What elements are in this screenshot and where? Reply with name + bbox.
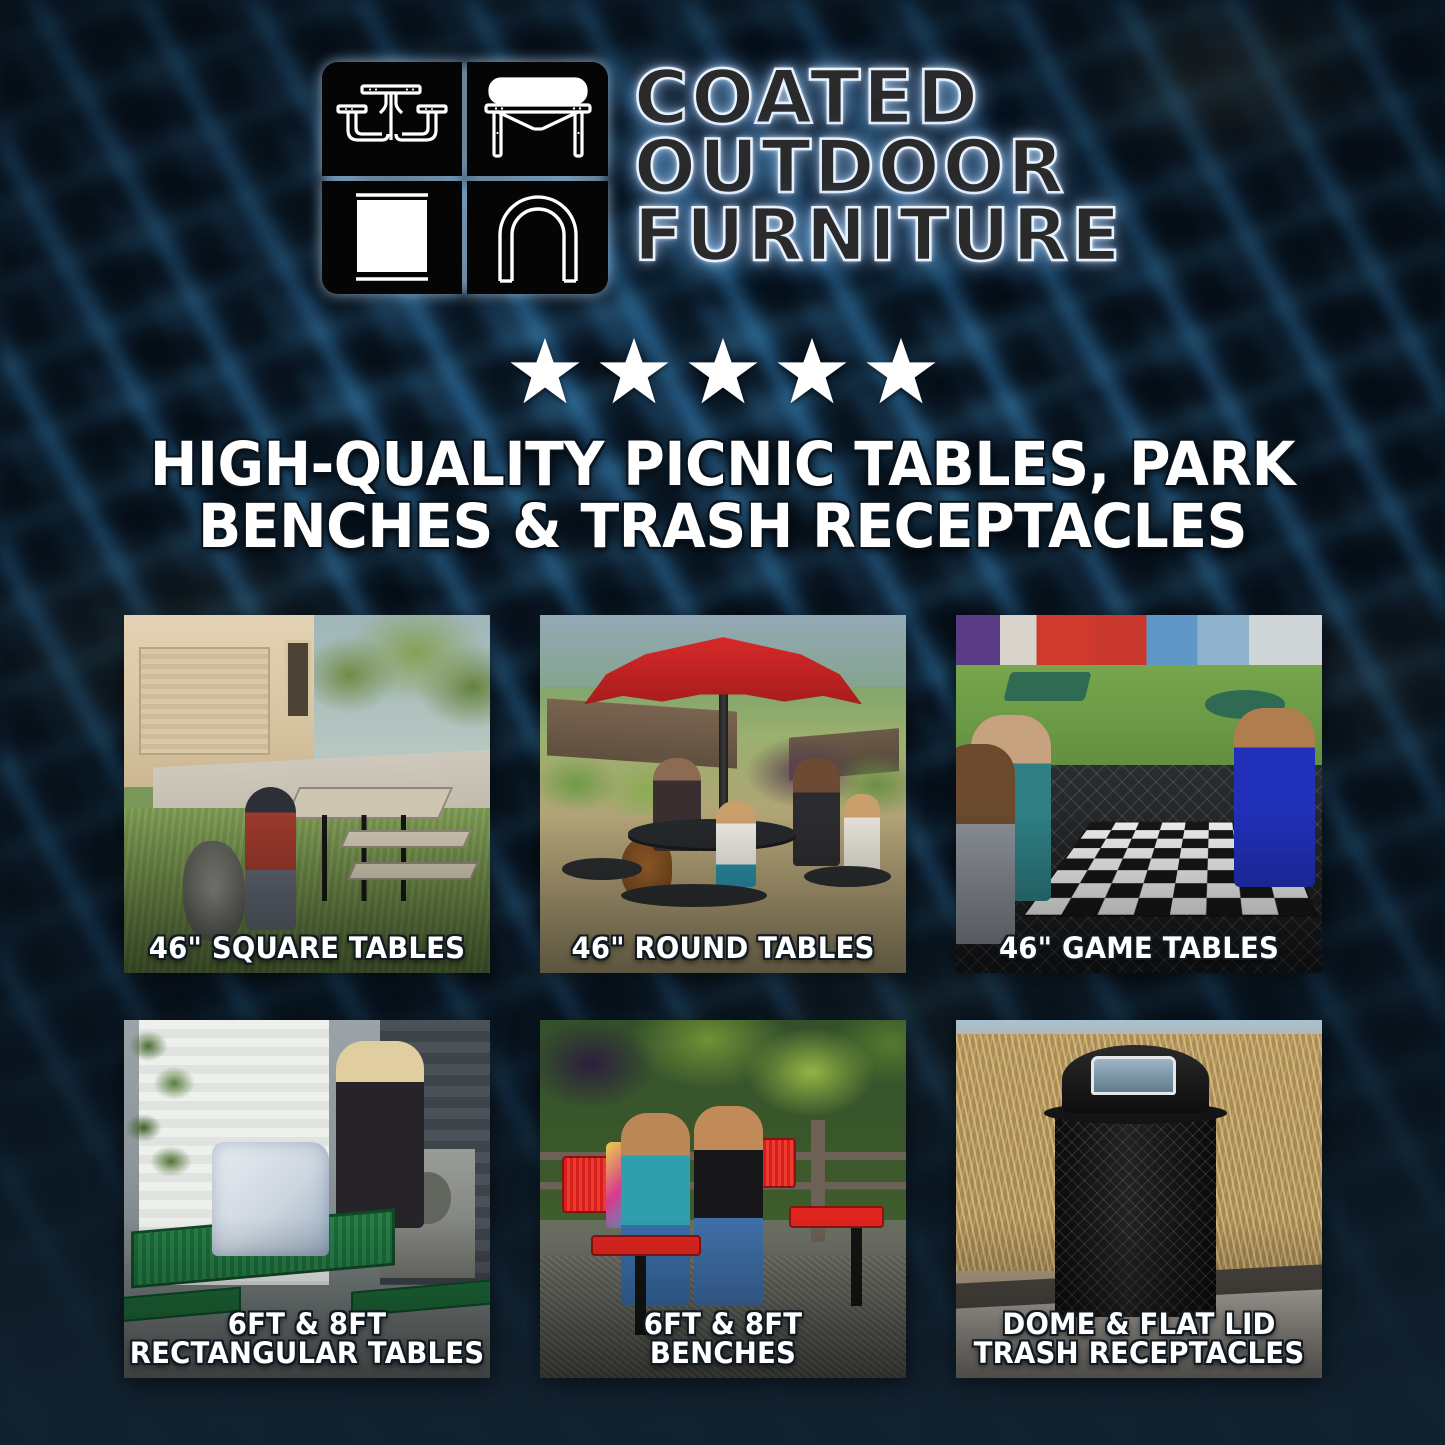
trash-receptacle-icon: [322, 181, 463, 295]
brand-word-3: FURNITURE: [634, 202, 1123, 270]
product-card-game-tables[interactable]: 46" GAME TABLES: [956, 615, 1322, 973]
star-icon: [865, 336, 937, 406]
rating-stars: [0, 336, 1445, 406]
product-photo-benches: [540, 1020, 906, 1378]
picnic-table-icon: [322, 62, 463, 176]
star-icon: [598, 336, 670, 406]
product-photo-square-tables: [124, 615, 490, 973]
star-icon: [509, 336, 581, 406]
logo-mark: [322, 62, 608, 294]
product-card-square-tables[interactable]: 46" SQUARE TABLES: [124, 615, 490, 973]
product-card-trash-receptacles[interactable]: DOME & FLAT LID TRASH RECEPTACLES: [956, 1020, 1322, 1378]
star-icon: [687, 336, 759, 406]
brand-word-1: COATED: [634, 64, 981, 134]
brand-word-2: OUTDOOR: [634, 134, 1067, 203]
product-photo-round-tables: [540, 615, 906, 973]
product-card-round-tables[interactable]: 46" ROUND TABLES: [540, 615, 906, 973]
product-photo-game-tables: [956, 615, 1322, 973]
product-photo-trash-receptacles: [956, 1020, 1322, 1378]
promo-graphic: COATED OUTDOOR FURNITURE HIGH-QUALITY PI…: [0, 0, 1445, 1445]
product-grid: 46" SQUARE TABLES: [124, 615, 1323, 1378]
arch-bike-rack-icon: [467, 181, 608, 295]
brand-wordmark: COATED OUTDOOR FURNITURE: [634, 62, 1123, 270]
product-photo-rectangular-tables: [124, 1020, 490, 1378]
star-icon: [776, 336, 848, 406]
brand-logo: COATED OUTDOOR FURNITURE: [0, 62, 1445, 294]
headline-line-1: HIGH-QUALITY PICNIC TABLES, PARK: [51, 434, 1395, 496]
product-card-rectangular-tables[interactable]: 6FT & 8FT RECTANGULAR TABLES: [124, 1020, 490, 1378]
product-card-benches[interactable]: 6FT & 8FT BENCHES: [540, 1020, 906, 1378]
bench-icon: [467, 62, 608, 176]
page-title: HIGH-QUALITY PICNIC TABLES, PARK BENCHES…: [51, 434, 1395, 558]
headline-line-2: BENCHES & TRASH RECEPTACLES: [51, 496, 1395, 558]
